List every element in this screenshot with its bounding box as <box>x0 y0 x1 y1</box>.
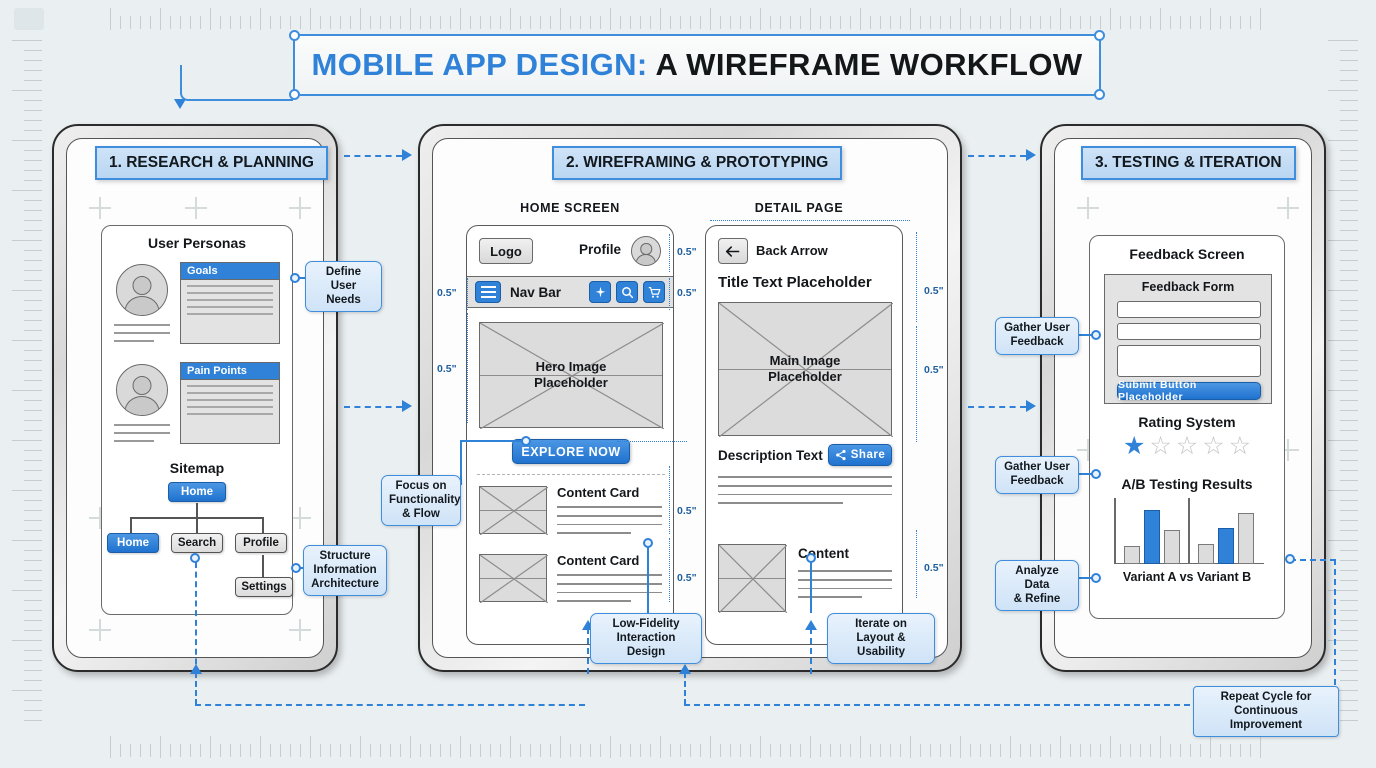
rating-star-1[interactable]: ★ <box>1123 434 1145 459</box>
callout-dot-define-user-needs[interactable] <box>290 273 300 283</box>
dimension-line <box>669 538 670 602</box>
sitemap-loop-dot[interactable] <box>190 553 200 563</box>
callout-structure-information-architecture: Structure Information Architecture <box>303 545 387 596</box>
sitemap-connector <box>196 517 198 533</box>
callout-lead <box>647 547 649 613</box>
persona-card-pain-points-lines <box>181 380 279 425</box>
dimension-line <box>916 326 917 442</box>
sitemap-title: Sitemap <box>102 460 292 476</box>
profile-avatar-icon[interactable] <box>631 236 661 266</box>
sitemap-node-profile[interactable]: Profile <box>235 533 287 553</box>
chart-bar-A-3 <box>1164 530 1180 564</box>
feedback-loop-right <box>684 704 1200 706</box>
flow-arrow-2-3-top <box>968 155 1026 157</box>
callout-dot-structure-ia[interactable] <box>291 563 301 573</box>
sitemap-node-root-home[interactable]: Home <box>168 482 226 502</box>
flow-arrow-2-3-top-head <box>1026 149 1036 161</box>
callout-lead <box>460 440 522 442</box>
detail-title-placeholder: Title Text Placeholder <box>718 274 872 291</box>
callout-define-user-needs: Define User Needs <box>305 261 382 312</box>
dimension-line <box>916 530 917 598</box>
content-card-2-title: Content Card <box>557 553 639 568</box>
persona-card-goals-label: Goals <box>181 263 279 280</box>
dimension-label-detail-1: 0.5" <box>924 285 944 297</box>
selection-handle-top-left[interactable] <box>289 30 300 41</box>
content-card-2-thumbnail <box>479 554 547 602</box>
page-title-highlight: MOBILE APP DESIGN: <box>311 47 647 82</box>
callout-analyze-data-refine: Analyze Data & Refine <box>995 560 1079 611</box>
ab-testing-chart <box>1114 498 1264 564</box>
persona-card-pain-points-label: Pain Points <box>181 363 279 380</box>
flow-arrow-1-2-top <box>344 155 402 157</box>
page-title-text: MOBILE APP DESIGN: A WIREFRAME WORKFLOW <box>311 47 1082 83</box>
ab-testing-caption: Variant A vs Variant B <box>1090 570 1284 584</box>
hamburger-menu-icon[interactable] <box>475 281 501 303</box>
callout-low-fidelity-interaction-design: Low-Fidelity Interaction Design <box>590 613 702 664</box>
dimension-line <box>669 466 670 534</box>
selection-handle-bottom-right[interactable] <box>1094 89 1105 100</box>
nav-bar-label: Nav Bar <box>510 285 561 300</box>
description-lines <box>718 476 892 511</box>
rating-star-4[interactable]: ☆ <box>1202 434 1224 459</box>
dimension-line-detail-width <box>710 220 910 221</box>
feedback-form: Feedback Form Submit Button Placeholder <box>1104 274 1272 404</box>
registration-cross <box>289 197 311 219</box>
sitemap-connector <box>130 517 132 533</box>
title-leader-line <box>180 65 293 101</box>
persona-card-goals: Goals <box>180 262 280 344</box>
persona-line <box>114 424 170 426</box>
registration-cross <box>1277 197 1299 219</box>
home-screen-label: HOME SCREEN <box>505 201 635 215</box>
ruler-bottom <box>110 736 1270 762</box>
dimension-label-home-4: 0.5" <box>677 572 697 584</box>
flow-arrow-2-3-mid <box>968 406 1026 408</box>
chart-bar-A-1 <box>1124 546 1140 564</box>
sparkle-icon[interactable] <box>589 281 611 303</box>
panel-3-header: 3. TESTING & ITERATION <box>1081 146 1296 180</box>
registration-cross <box>185 197 207 219</box>
registration-cross <box>1077 197 1099 219</box>
sitemap-node-home[interactable]: Home <box>107 533 159 553</box>
feedback-input-2[interactable] <box>1117 323 1261 340</box>
sitemap-loop-line <box>195 562 197 674</box>
dimension-line <box>916 232 917 322</box>
description-text-label: Description Text <box>718 448 823 463</box>
rating-star-2[interactable]: ☆ <box>1149 434 1171 459</box>
low-fidelity-loop-line <box>587 628 589 674</box>
persona-line <box>114 340 154 342</box>
iterate-loop-head <box>805 620 817 630</box>
ruler-left <box>12 40 46 730</box>
registration-cross <box>89 197 111 219</box>
cart-icon[interactable] <box>643 281 665 303</box>
persona-line <box>114 440 154 442</box>
callout-lead <box>810 562 812 613</box>
feedback-textarea[interactable] <box>1117 345 1261 377</box>
chart-bar-A-2 <box>1144 510 1160 564</box>
callout-dot-feedback-form[interactable] <box>1091 330 1101 340</box>
panel-1-header: 1. RESEARCH & PLANNING <box>95 146 328 180</box>
feedback-screen-title: Feedback Screen <box>1090 246 1284 262</box>
persona-line <box>114 324 170 326</box>
registration-cross <box>89 619 111 641</box>
chart-bar-B-1 <box>1198 544 1214 564</box>
home-screen-mockup: Logo Profile Nav Bar <box>466 225 674 645</box>
feedback-loop-right-top <box>1290 559 1336 561</box>
content-card-1-thumbnail <box>479 486 547 534</box>
share-button-label: Share <box>851 449 885 461</box>
flow-arrow-2-3-mid-head <box>1026 400 1036 412</box>
dimension-label-detail-2: 0.5" <box>924 364 944 376</box>
feedback-loop-left <box>195 704 585 706</box>
selection-handle-top-right[interactable] <box>1094 30 1105 41</box>
callout-dot-iterate-layout[interactable] <box>806 553 816 563</box>
dimension-label-left-1: 0.5" <box>437 287 457 299</box>
hero-image-placeholder: Hero Image Placeholder <box>479 322 663 428</box>
feedback-loop-left-riser <box>195 672 197 705</box>
chart-axis-y-b <box>1188 498 1190 564</box>
ab-testing-title: A/B Testing Results <box>1090 476 1284 492</box>
feedback-loop-right-riser <box>1334 559 1336 705</box>
personas-title: User Personas <box>102 235 292 251</box>
callout-dot-rating[interactable] <box>1091 469 1101 479</box>
main-image-label: Main Image Placeholder <box>768 353 842 386</box>
feedback-loop-center-riser <box>684 672 686 705</box>
rating-star-3[interactable]: ☆ <box>1176 434 1198 459</box>
main-image-placeholder: Main Image Placeholder <box>718 302 892 436</box>
callout-focus-functionality-flow: Focus on Functionality & Flow <box>381 475 461 526</box>
sitemap-connector <box>262 517 264 533</box>
profile-label: Profile <box>579 242 621 257</box>
feedback-form-title: Feedback Form <box>1105 280 1271 294</box>
sitemap-node-settings[interactable]: Settings <box>235 577 293 597</box>
chart-bar-B-2 <box>1218 528 1234 564</box>
callout-dot-low-fidelity[interactable] <box>643 538 653 548</box>
flow-arrow-1-2-mid-head <box>402 400 412 412</box>
page-title-rest: A WIREFRAME WORKFLOW <box>648 47 1083 82</box>
dimension-label-left-2: 0.5" <box>437 363 457 375</box>
content-card-1-lines <box>557 506 662 541</box>
feedback-loop-anchor-dot[interactable] <box>1285 554 1295 564</box>
persona-line <box>114 332 170 334</box>
persona-card-pain-points: Pain Points <box>180 362 280 444</box>
content-card-1-title: Content Card <box>557 485 639 500</box>
sitemap-connector <box>196 503 198 517</box>
nav-bar: Nav Bar <box>467 276 673 308</box>
dimension-line <box>669 234 670 272</box>
persona-line <box>114 432 170 434</box>
dimension-line <box>669 278 670 310</box>
ruler-corner <box>14 8 44 30</box>
iterate-loop-line <box>810 628 812 674</box>
chart-bar-B-3 <box>1238 513 1254 564</box>
rating-system-title: Rating System <box>1090 414 1284 430</box>
explore-dim-line <box>617 441 687 442</box>
callout-gather-user-feedback-2: Gather User Feedback <box>995 456 1079 494</box>
detail-page-mockup: Back Arrow Title Text Placeholder Main I… <box>705 225 903 645</box>
callout-dot-explore-now[interactable] <box>521 436 531 446</box>
panel-wireframing-prototyping: HOME SCREEN DETAIL PAGE Logo Profile Nav… <box>418 124 962 672</box>
panel-testing-iteration: Feedback Screen Feedback Form Submit But… <box>1040 124 1326 672</box>
logo-button[interactable]: Logo <box>479 238 533 264</box>
infographic-canvas: MOBILE APP DESIGN: A WIREFRAME WORKFLOW <box>0 0 1376 768</box>
sitemap-node-search[interactable]: Search <box>171 533 223 553</box>
back-arrow-icon[interactable] <box>718 238 748 264</box>
chart-axis-y-a <box>1114 498 1116 564</box>
back-arrow-label: Back Arrow <box>756 243 828 258</box>
rating-star-5[interactable]: ☆ <box>1229 434 1251 459</box>
dimension-label-home-2: 0.5" <box>677 287 697 299</box>
flow-arrow-1-2-top-head <box>402 149 412 161</box>
flow-arrow-1-2-mid <box>344 406 402 408</box>
callout-gather-user-feedback-1: Gather User Feedback <box>995 317 1079 355</box>
section-divider <box>477 474 665 475</box>
feedback-input-1[interactable] <box>1117 301 1261 318</box>
feedback-screen-card: Feedback Screen Feedback Form Submit But… <box>1089 235 1285 619</box>
persona-card-goals-lines <box>181 280 279 325</box>
search-icon[interactable] <box>616 281 638 303</box>
avatar <box>116 264 168 316</box>
content-block-lines <box>798 570 892 605</box>
submit-button[interactable]: Submit Button Placeholder <box>1117 382 1261 400</box>
feedback-loop-center-head <box>679 664 691 674</box>
avatar <box>116 364 168 416</box>
content-block-thumbnail <box>718 544 786 612</box>
share-button[interactable]: Share <box>828 444 892 466</box>
dimension-line <box>467 278 468 310</box>
title-leader-arrow <box>174 99 186 109</box>
panel-2-header: 2. WIREFRAMING & PROTOTYPING <box>552 146 842 180</box>
detail-page-label: DETAIL PAGE <box>729 201 869 215</box>
page-title: MOBILE APP DESIGN: A WIREFRAME WORKFLOW <box>293 34 1101 96</box>
rating-stars[interactable]: ★☆☆☆☆ <box>1090 434 1284 459</box>
callout-dot-ab-testing[interactable] <box>1091 573 1101 583</box>
dimension-line <box>467 313 468 423</box>
sitemap-connector <box>262 555 264 577</box>
callout-repeat-cycle: Repeat Cycle for Continuous Improvement <box>1193 686 1339 737</box>
registration-cross <box>289 619 311 641</box>
dimension-label-home-3: 0.5" <box>677 505 697 517</box>
dimension-label-home-1: 0.5" <box>677 246 697 258</box>
callout-iterate-layout-usability: Iterate on Layout & Usability <box>827 613 935 664</box>
hero-image-label: Hero Image Placeholder <box>534 359 608 392</box>
dimension-label-detail-3: 0.5" <box>924 562 944 574</box>
